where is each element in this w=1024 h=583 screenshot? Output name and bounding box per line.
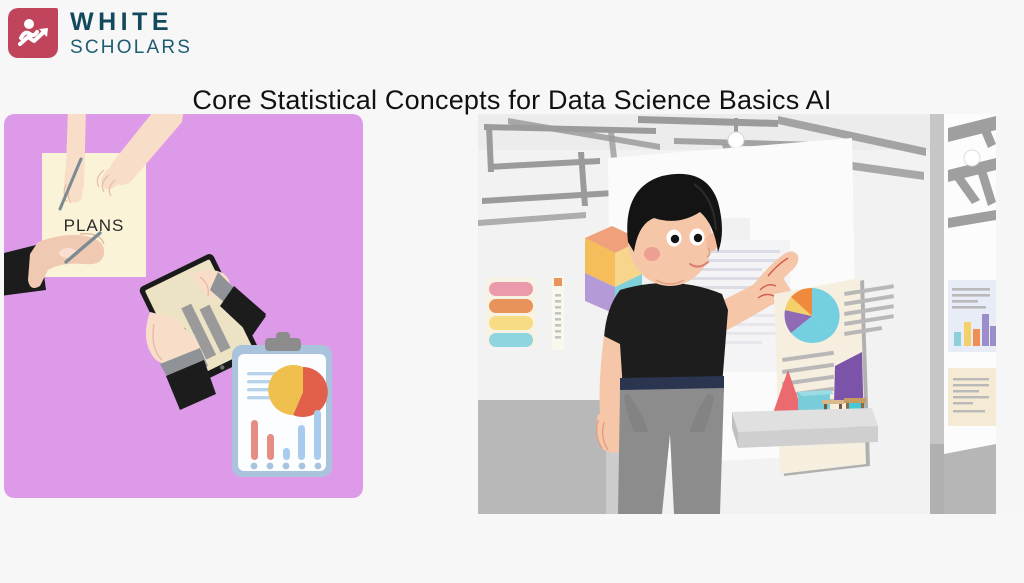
column-bar	[954, 332, 961, 346]
clipboard-bar	[251, 420, 258, 460]
right-illustration-panel	[478, 114, 1024, 514]
clipboard-text-line	[247, 396, 271, 399]
brand-logo[interactable]: WHITE SCHOLARS	[8, 8, 192, 58]
clipboard-dot	[267, 463, 274, 470]
clipboard-dot	[283, 463, 290, 470]
column-cream-poster	[948, 368, 996, 426]
page-title: Core Statistical Concepts for Data Scien…	[0, 85, 1024, 116]
brand-wordmark: WHITE SCHOLARS	[70, 10, 192, 57]
clipboard-dot	[299, 463, 306, 470]
brand-line-scholars: SCHOLARS	[70, 38, 192, 57]
clipboard-dot	[315, 463, 322, 470]
clipboard-bar	[283, 448, 290, 460]
person-growth-arrow-icon	[8, 8, 58, 58]
person-shirt	[614, 283, 728, 392]
column-bar	[973, 329, 980, 346]
column-bar	[964, 322, 971, 346]
brand-line-white: WHITE	[70, 10, 192, 35]
clipboard-dot	[251, 463, 258, 470]
scale-strip	[552, 276, 564, 350]
swatch-pink	[489, 282, 533, 296]
swatch-cyan	[489, 333, 533, 347]
poster-pie-chart	[785, 288, 840, 343]
analyst-presenting-posters-illustration	[478, 114, 1024, 514]
floor-left	[478, 400, 608, 514]
color-swatch-card	[486, 278, 536, 347]
planning-team-illustration: PLANS	[4, 114, 363, 498]
swatch-yellow	[489, 316, 533, 330]
plans-label: PLANS	[64, 216, 125, 235]
column-blue-poster	[948, 280, 997, 352]
side-column	[930, 114, 997, 514]
swatch-orange	[489, 299, 533, 313]
clipboard	[232, 332, 332, 477]
person-blush	[644, 247, 660, 261]
clipboard-bar	[298, 425, 305, 460]
clipboard-bar	[314, 410, 321, 460]
left-illustration-panel: PLANS	[4, 114, 363, 498]
column-bar	[982, 314, 989, 346]
clipboard-bar	[267, 434, 274, 460]
person-eye-left	[671, 235, 679, 243]
column-lamp-icon	[964, 150, 980, 166]
person-eye-right	[694, 234, 702, 242]
column-bar	[990, 326, 997, 346]
